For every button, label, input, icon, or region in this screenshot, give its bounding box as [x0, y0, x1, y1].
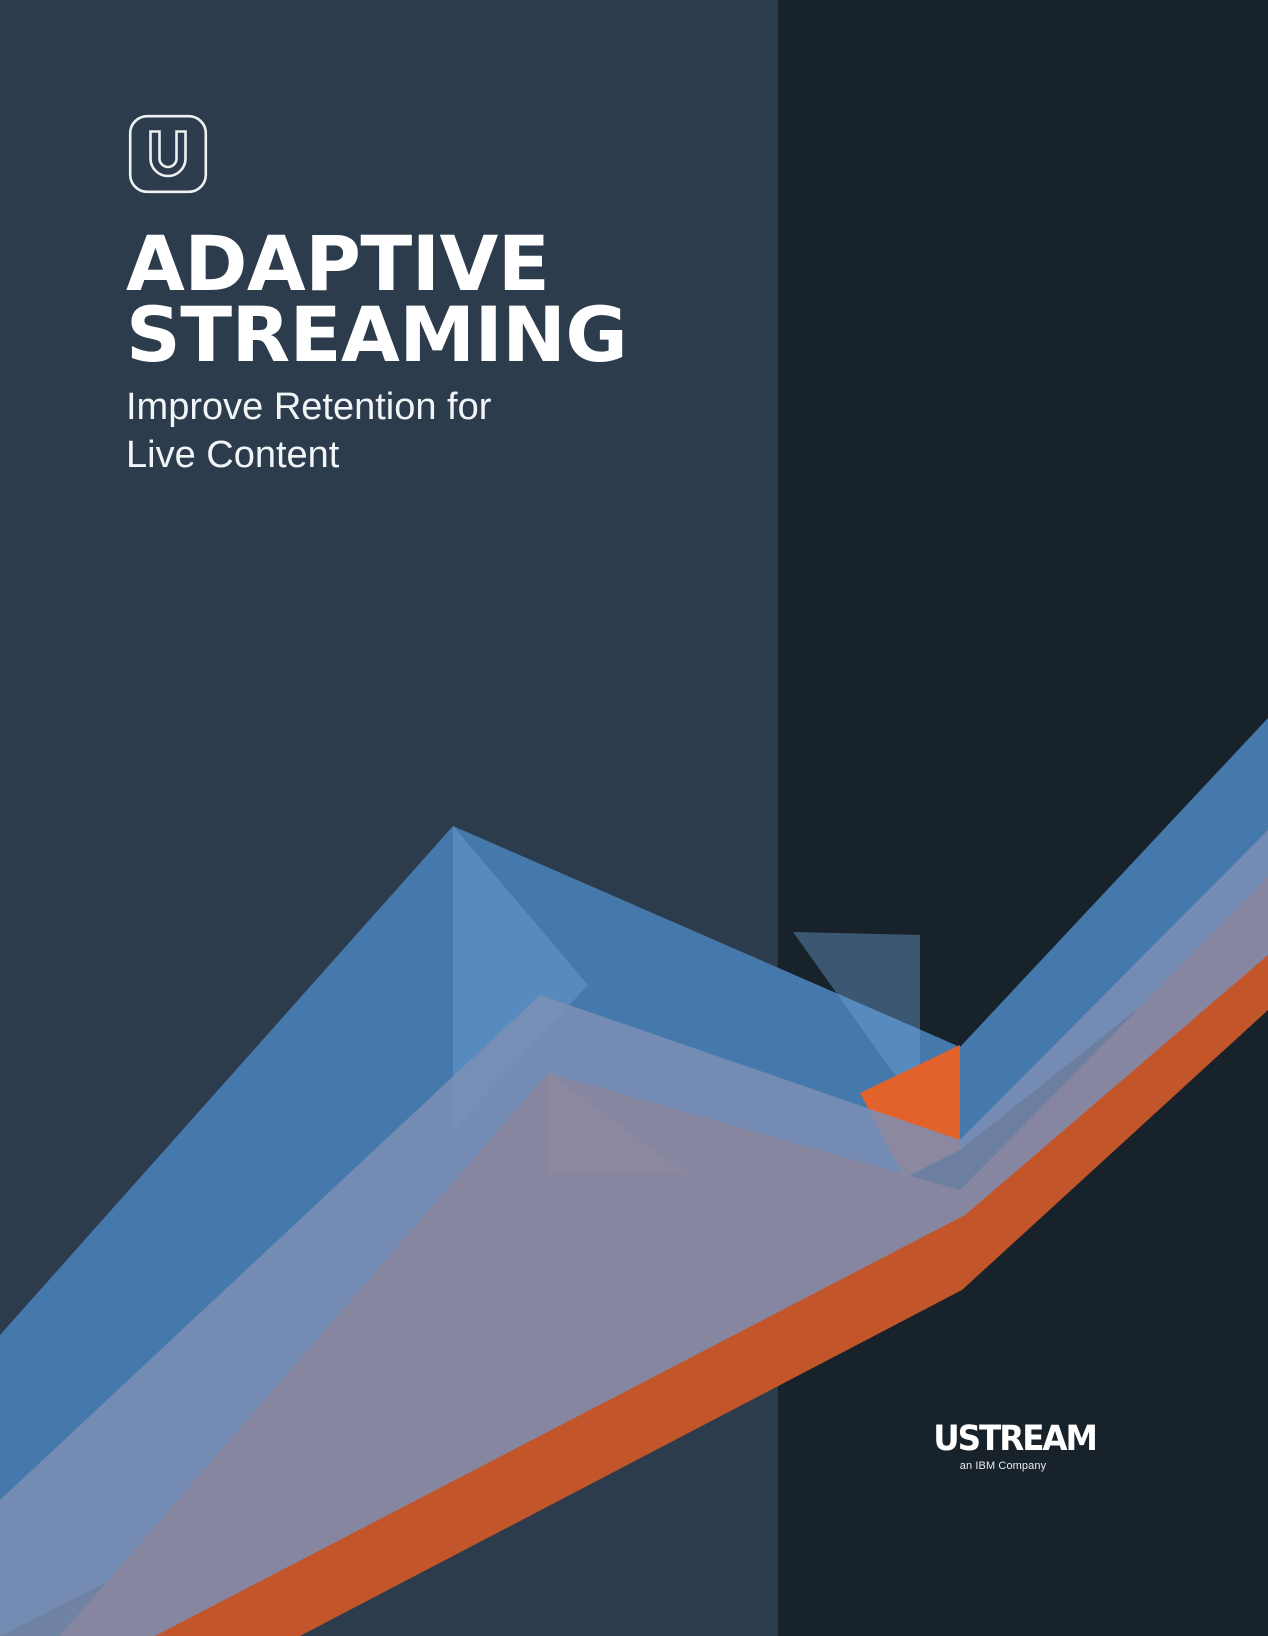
page-subtitle-line-1: Improve Retention for: [126, 383, 746, 431]
cover-page: ADAPTIVE STREAMING Improve Retention for…: [0, 0, 1268, 1636]
ustream-wordmark: USTREAM: [933, 1422, 1073, 1457]
ustream-u-mark-icon: [128, 114, 208, 194]
page-subtitle: Improve Retention for Live Content: [126, 383, 746, 480]
title-block: ADAPTIVE STREAMING Improve Retention for…: [126, 228, 746, 479]
page-title-line-2: STREAMING: [126, 299, 746, 370]
page-subtitle-line-2: Live Content: [126, 431, 746, 479]
page-title-line-1: ADAPTIVE: [126, 228, 746, 299]
page-title: ADAPTIVE STREAMING: [126, 228, 746, 371]
brand-footer: USTREAM an IBM Company: [928, 1422, 1078, 1472]
background-panel-right: [778, 0, 1268, 1636]
ibm-company-tagline: an IBM Company: [928, 1461, 1078, 1472]
